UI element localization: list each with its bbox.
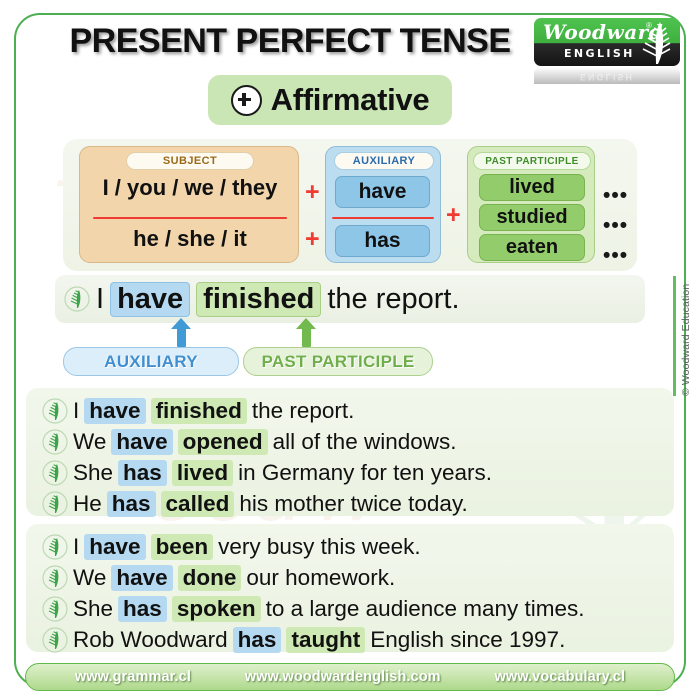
past-participle-tag: PAST PARTICIPLE: [473, 152, 591, 170]
sentence-row: Shehasspokento a large audience many tim…: [42, 594, 585, 624]
formula-subject-group: SUBJECT I / you / we / they he / she / i…: [79, 146, 299, 263]
sentence-auxiliary: have: [111, 429, 172, 455]
sentence-past-participle: been: [151, 534, 214, 560]
fern-leaf-icon: [42, 491, 68, 517]
sentence-auxiliary: has: [118, 460, 167, 486]
plus-operator-3: +: [446, 203, 461, 228]
sentence-remainder: the report.: [252, 398, 355, 424]
sentence-row: Hehascalledhis mother twice today.: [42, 489, 468, 519]
sentence-row: Ihavebeenvery busy this week.: [42, 532, 421, 562]
sentence-past-participle: lived: [172, 460, 233, 486]
sentence-row: Wehaveopenedall of the windows.: [42, 427, 457, 457]
ellipsis-3: •••: [603, 245, 628, 266]
sentence-past-participle: done: [178, 565, 242, 591]
sentence-past-participle: taught: [286, 627, 365, 653]
past-participle-option-lived: lived: [479, 174, 585, 201]
woodward-logo: Woodward ® ENGLISH ENGLISH: [534, 18, 680, 66]
copyright-block: © Woodward Education: [671, 276, 689, 396]
example-auxiliary: have: [110, 282, 190, 317]
fern-leaf-icon: [42, 398, 68, 424]
sentence-past-participle: called: [161, 491, 235, 517]
subject-divider: [93, 217, 287, 219]
sentence-remainder: very busy this week.: [218, 534, 421, 560]
ellipsis-2: •••: [603, 215, 628, 236]
sentence-row: Ihavefinishedthe report.: [42, 396, 354, 426]
fern-leaf-icon: [64, 286, 90, 312]
example-sentence: I have finished the report.: [64, 277, 460, 321]
plus-operator-1: +: [305, 180, 320, 205]
footer-link-vocabulary[interactable]: www.vocabulary.cl: [494, 669, 625, 685]
sentence-auxiliary: has: [233, 627, 282, 653]
copyright-text: © Woodward Education: [680, 284, 692, 396]
fern-leaf-icon: [42, 627, 68, 653]
example-past-participle: finished: [196, 282, 321, 317]
example-before: I: [96, 283, 104, 316]
sentence-remainder: English since 1997.: [370, 627, 565, 653]
sentence-subject: I: [73, 398, 79, 424]
past-participle-arrow-icon: [296, 318, 316, 329]
logo-reflection: ENGLISH: [534, 67, 680, 84]
formula-panel: SUBJECT I / you / we / they he / she / i…: [63, 139, 637, 271]
sentence-subject: We: [73, 429, 106, 455]
sentence-subject: We: [73, 565, 106, 591]
auxiliary-arrow-stem: [177, 327, 186, 347]
ellipsis-1: •••: [603, 185, 628, 206]
sentence-remainder: in Germany for ten years.: [238, 460, 492, 486]
sentence-subject: She: [73, 596, 113, 622]
plus-operator-2: +: [305, 227, 320, 252]
sentence-subject: He: [73, 491, 102, 517]
footer-link-grammar[interactable]: www.grammar.cl: [75, 669, 191, 685]
subject-tag: SUBJECT: [126, 152, 254, 170]
sentence-past-participle: opened: [178, 429, 268, 455]
sentence-auxiliary: have: [111, 565, 172, 591]
auxiliary-arrow-icon: [171, 318, 191, 329]
copyright-rule: [673, 276, 676, 396]
subject-line-1: I / you / we / they: [80, 175, 300, 201]
sentence-past-participle: finished: [151, 398, 247, 424]
formula-past-participle-group: PAST PARTICIPLE lived studied eaten: [467, 146, 595, 263]
sentence-row: Rob WoodwardhastaughtEnglish since 1997.: [42, 625, 565, 655]
past-participle-arrow-stem: [302, 327, 311, 347]
footer-bar: www.grammar.cl www.woodwardenglish.com w…: [25, 663, 675, 691]
sentence-row: Shehaslivedin Germany for ten years.: [42, 458, 492, 488]
formula-auxiliary-group: AUXILIARY have has: [325, 146, 441, 263]
sentence-subject: I: [73, 534, 79, 560]
auxiliary-tag: AUXILIARY: [334, 152, 434, 170]
sentence-auxiliary: has: [107, 491, 156, 517]
past-participle-option-studied: studied: [479, 204, 585, 231]
poster: W oodw PRESENT PERFECT TENSE Woodward ® …: [0, 0, 700, 700]
auxiliary-option-has: has: [335, 225, 430, 257]
sentence-subject: Rob Woodward: [73, 627, 228, 653]
past-participle-option-eaten: eaten: [479, 234, 585, 261]
sentence-row: Wehavedoneour homework.: [42, 563, 395, 593]
form-type-label: Affirmative: [271, 82, 430, 118]
auxiliary-divider: [332, 217, 434, 219]
sentence-remainder: his mother twice today.: [239, 491, 467, 517]
fern-leaf-icon: [42, 565, 68, 591]
fern-leaf-icon: [42, 596, 68, 622]
footer-link-woodwardenglish[interactable]: www.woodwardenglish.com: [245, 669, 441, 685]
logo-sub-text: ENGLISH: [564, 47, 635, 60]
fern-leaf-icon: [42, 429, 68, 455]
sentence-remainder: our homework.: [246, 565, 395, 591]
sentence-remainder: all of the windows.: [273, 429, 457, 455]
sentence-subject: She: [73, 460, 113, 486]
legend-auxiliary: AUXILIARY: [63, 347, 239, 376]
fern-leaf-icon: [42, 534, 68, 560]
example-after: the report.: [327, 283, 459, 316]
sentence-auxiliary: have: [84, 398, 145, 424]
sentence-auxiliary: have: [84, 534, 145, 560]
plus-circle-icon: [231, 85, 262, 116]
legend-past-participle: PAST PARTICIPLE: [243, 347, 433, 376]
fern-leaf-icon: [42, 460, 68, 486]
sentence-auxiliary: has: [118, 596, 167, 622]
sentence-past-participle: spoken: [172, 596, 261, 622]
subject-line-2: he / she / it: [80, 226, 300, 252]
logo-fern-icon: [636, 20, 676, 66]
logo-box: Woodward ® ENGLISH: [534, 18, 680, 66]
form-type-badge: Affirmative: [208, 75, 452, 125]
auxiliary-option-have: have: [335, 176, 430, 208]
sentence-remainder: to a large audience many times.: [266, 596, 585, 622]
